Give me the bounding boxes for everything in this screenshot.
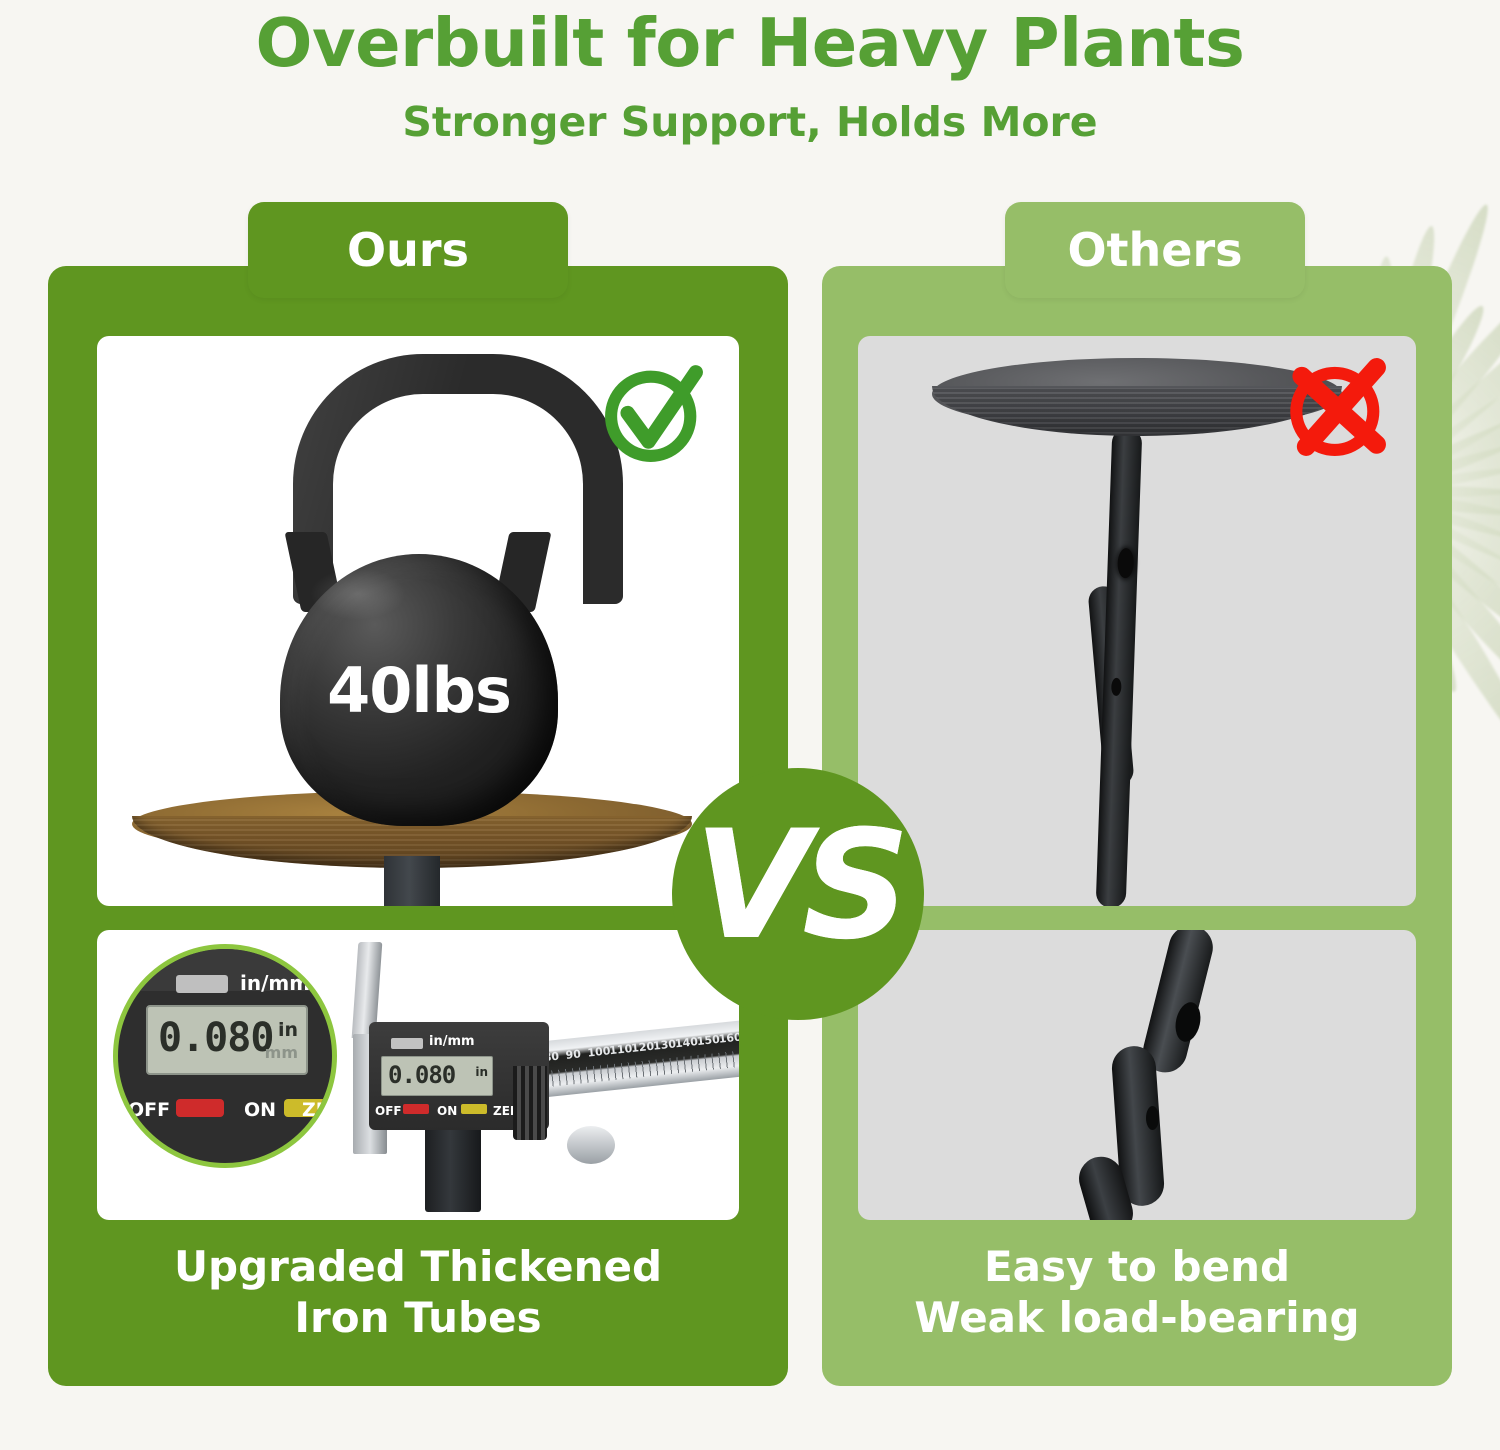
bent-tube-illustration: [858, 930, 1416, 1220]
tab-ours-label: Ours: [347, 223, 469, 277]
caliper-on-button[interactable]: [461, 1104, 487, 1114]
ours-top-photo: 40lbs: [97, 336, 739, 906]
others-caption-line2: Weak load-bearing: [822, 1292, 1452, 1343]
vs-badge-label: VS: [694, 811, 902, 961]
caliper-lcd: 0.080 in: [381, 1056, 493, 1096]
panel-ours: 40lbs 8090100110120130140150160170 in/mm…: [48, 266, 788, 1386]
others-top-photo: [858, 336, 1416, 906]
tab-ours[interactable]: Ours: [248, 202, 568, 298]
others-bottom-photo: [858, 930, 1416, 1220]
square-steel-leg: [384, 856, 440, 906]
caliper-unit-label: in/mm: [429, 1034, 475, 1049]
callout-off-label: OFF: [128, 1099, 170, 1121]
others-caption-line1: Easy to bend: [822, 1241, 1452, 1292]
gray-table-grain-texture: [932, 388, 1342, 434]
callout-on-label: ON: [244, 1099, 276, 1121]
caliper-lcd-unit: in: [475, 1065, 488, 1079]
tab-others-label: Others: [1067, 223, 1242, 277]
caliper-tick-label: 130: [652, 1037, 676, 1052]
caliper-off-label: OFF: [375, 1104, 402, 1118]
callout-zero-label: ZERO: [302, 1099, 337, 1121]
bent-tube-hole-small: [1146, 1106, 1159, 1130]
caliper-tick-label: 110: [609, 1042, 633, 1057]
tab-others[interactable]: Others: [1005, 202, 1305, 298]
callout-lcd-alt-unit: mm: [265, 1043, 298, 1062]
kettlebell-weight-label: 40lbs: [280, 654, 558, 727]
caliper-tick-label: 120: [631, 1040, 655, 1055]
caliper-illustration: 8090100110120130140150160170 in/mm 0.080…: [97, 930, 739, 1220]
caliper-tick-label: 150: [696, 1033, 720, 1048]
caliper-on-label: ON: [437, 1104, 457, 1118]
callout-unit-label: in/mm: [240, 971, 310, 995]
ours-caption: Upgraded Thickened Iron Tubes: [48, 1241, 788, 1343]
callout-lcd: 0.080 in mm: [146, 1005, 308, 1075]
ours-bottom-photo: 8090100110120130140150160170 in/mm 0.080…: [97, 930, 739, 1220]
x-circle-icon: [1282, 352, 1392, 462]
check-circle-icon: [599, 358, 709, 468]
caliper-tick-label: 140: [674, 1035, 698, 1050]
others-caption: Easy to bend Weak load-bearing: [822, 1241, 1452, 1343]
caliper-tick-label: 160: [718, 1030, 739, 1045]
vs-badge: VS: [672, 768, 924, 1020]
measured-iron-tube: [425, 1116, 481, 1212]
page-title: Overbuilt for Heavy Plants: [0, 6, 1500, 81]
ours-caption-line1: Upgraded Thickened: [48, 1241, 788, 1292]
caliper-grip-fins: [513, 1066, 547, 1140]
callout-lcd-unit: in: [278, 1019, 298, 1041]
page-subtitle: Stronger Support, Holds More: [0, 98, 1500, 146]
caliper-unit-button[interactable]: [391, 1038, 423, 1049]
caliper-display-head: in/mm 0.080 in OFF ON ZERO: [369, 1022, 549, 1130]
caliper-thumb-knob: [567, 1126, 615, 1164]
caliper-off-button[interactable]: [403, 1104, 429, 1114]
ours-caption-line2: Iron Tubes: [48, 1292, 788, 1343]
caliper-tick-label: 100: [587, 1044, 611, 1059]
callout-lcd-value: 0.080: [158, 1015, 273, 1061]
caliper-magnified-callout: in/mm 0.080 in mm OFF ON ZERO: [113, 944, 337, 1168]
callout-off-button[interactable]: [176, 1099, 224, 1117]
caliper-scale-rail: 8090100110120130140150160170: [534, 1020, 739, 1098]
caliper-tick-label: 90: [565, 1047, 582, 1062]
panel-others: Easy to bend Weak load-bearing: [822, 266, 1452, 1386]
caliper-lcd-value: 0.080: [388, 1061, 455, 1089]
callout-unit-button[interactable]: [176, 975, 228, 993]
